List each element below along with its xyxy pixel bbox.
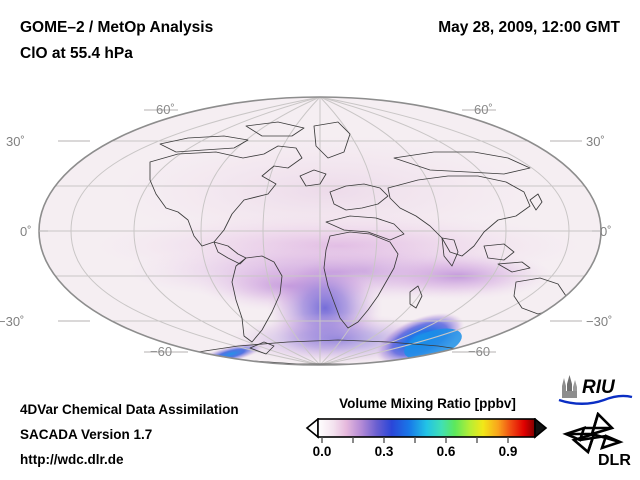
dlr-logo: DLR (562, 412, 634, 468)
colorbar: Volume Mixing Ratio [ppbv] (305, 396, 550, 468)
colorbar-tick-labels: 0.0 0.3 0.6 0.9 (305, 444, 550, 464)
lat-label-0-right: 0˚ (600, 224, 612, 239)
lat-label-30-right: 30˚ (586, 134, 605, 149)
colorbar-tick-0: 0.0 (313, 444, 332, 459)
mollweide-map (38, 96, 602, 366)
colorbar-under-arrow (307, 419, 318, 437)
datetime-label: May 28, 2009, 12:00 GMT (438, 19, 620, 37)
riu-logo: RIU (556, 374, 634, 406)
page-subtitle: ClO at 55.4 hPa (20, 45, 133, 63)
lat-label-60-left: 60˚ (156, 102, 175, 117)
riu-spires-icon (562, 375, 577, 398)
lat-label-m30-right: −30˚ (586, 314, 612, 329)
lat-label-60-right: 60˚ (474, 102, 493, 117)
lat-label-0-left: 0˚ (20, 224, 32, 239)
riu-logo-text: RIU (582, 377, 616, 398)
footer-line-version: SACADA Version 1.7 (20, 427, 152, 442)
colorbar-ramp (318, 419, 535, 437)
lat-label-30-left: 30˚ (6, 134, 25, 149)
dlr-logo-text: DLR (598, 452, 631, 468)
colorbar-gradient (305, 418, 550, 444)
lat-label-m30-left: −30˚ (0, 314, 24, 329)
lat-label-m60-right: −60 (468, 344, 490, 359)
dlr-star-icon (566, 414, 620, 452)
figure-root: GOME–2 / MetOp Analysis ClO at 55.4 hPa … (0, 0, 640, 480)
colorbar-over-arrow (535, 419, 546, 437)
colorbar-ticks (322, 437, 508, 443)
colorbar-title: Volume Mixing Ratio [ppbv] (305, 396, 550, 411)
lat-label-m60-left: −60 (150, 344, 172, 359)
map-panel: 30˚ 0˚ −30˚ 30˚ 0˚ −30˚ 60˚ 60˚ −60 −60 (38, 96, 602, 366)
page-title: GOME–2 / MetOp Analysis (20, 19, 213, 37)
colorbar-tick-3: 0.9 (499, 444, 518, 459)
footer-line-assimilation: 4DVar Chemical Data Assimilation (20, 402, 239, 417)
footer-line-url: http://wdc.dlr.de (20, 452, 124, 467)
colorbar-tick-2: 0.6 (437, 444, 456, 459)
colorbar-tick-1: 0.3 (375, 444, 394, 459)
